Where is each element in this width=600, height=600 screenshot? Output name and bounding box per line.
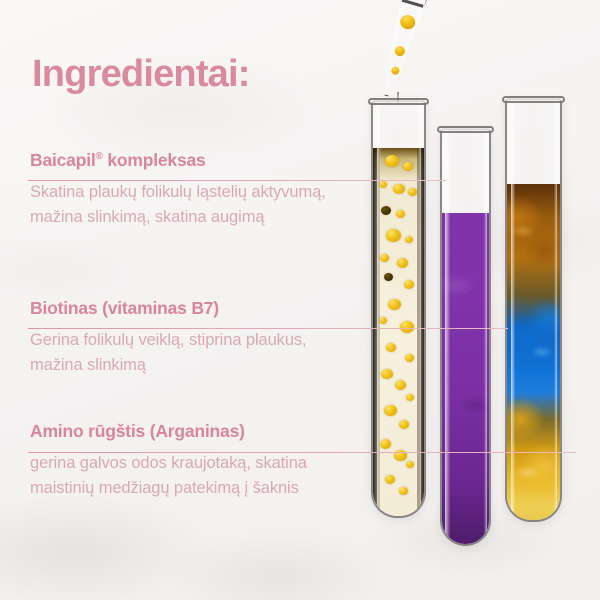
ingredient-heading-text: Amino rūgštis (Arganinas) (30, 421, 245, 441)
glass-pipette (374, 0, 429, 100)
tube-glass (505, 98, 562, 522)
pipette-droplet (399, 14, 417, 32)
tube-glass (371, 100, 426, 518)
ingredient-heading-text: Biotinas (vitaminas B7) (30, 298, 219, 318)
connector-line-to-tube-2 (28, 328, 508, 329)
oil-bubble (395, 380, 406, 390)
oil-bubble (393, 184, 405, 194)
oil-bubble (380, 439, 391, 449)
page-title: Ingredientai: (32, 53, 250, 96)
oil-bubble (385, 475, 395, 484)
ingredient-block-amino-rugstis: Amino rūgštis (Arganinas) gerina galvos … (30, 421, 330, 501)
oil-bubble (388, 299, 401, 310)
oil-bubble (408, 188, 417, 196)
oil-bubble (406, 394, 414, 401)
tube-edge-shadow-right (417, 148, 424, 516)
tube-rim (437, 126, 494, 133)
tube-glass (440, 128, 491, 546)
oil-bubble (405, 236, 413, 243)
oil-bubble (406, 461, 414, 468)
ingredient-description: Gerina folikulų veiklą, stiprina plaukus… (30, 328, 330, 378)
oil-bubble (399, 487, 408, 495)
oil-bubble (399, 420, 409, 429)
pipette-droplet (394, 45, 406, 57)
connector-line-to-tube-1 (28, 180, 446, 181)
test-tube-oil-serum (371, 100, 426, 518)
ingredient-description: Skatina plaukų folikulų ląstelių aktyvum… (30, 180, 330, 230)
pipette-droplet (390, 66, 400, 76)
test-tube-amber-blue (505, 98, 562, 522)
oil-bubble (379, 181, 387, 188)
tube-contents-oil (373, 148, 424, 516)
oil-bubble (385, 155, 399, 167)
test-tube-purple-powder (440, 128, 491, 546)
oil-bubble (380, 254, 389, 262)
ingredient-block-biotinas: Biotinas (vitaminas B7) Gerina folikulų … (30, 298, 330, 378)
oil-bubble (405, 354, 414, 362)
powder-texture (442, 213, 489, 544)
connector-line-to-tube-3 (28, 452, 576, 453)
oil-bubble (404, 280, 414, 289)
oil-bubble (381, 369, 393, 379)
oil-bubble (397, 258, 408, 268)
oil-bubble-dark (384, 273, 393, 281)
ingredient-heading: Biotinas (vitaminas B7) (30, 298, 330, 319)
oil-bubble (379, 317, 387, 324)
ingredient-block-baicapil: Baicapil® kompleksas Skatina plaukų foli… (30, 150, 330, 230)
oil-bubble (400, 321, 414, 333)
tube-rim (502, 96, 565, 103)
tube-contents-swirl (507, 184, 560, 520)
pipette-body (374, 0, 429, 100)
pipette-band (402, 0, 424, 8)
oil-bubble (386, 343, 396, 352)
ingredient-heading: Amino rūgštis (Arganinas) (30, 421, 330, 442)
ingredient-heading-text: Baicapil® kompleksas (30, 150, 206, 170)
ingredient-heading: Baicapil® kompleksas (30, 150, 330, 171)
tube-edge-shadow-left (373, 148, 380, 516)
oil-bubble-dark (381, 206, 391, 215)
oil-bubble (386, 229, 401, 242)
ingredient-description: gerina galvos odos kraujotaką, skatina m… (30, 451, 330, 501)
tube-contents-powder (442, 213, 489, 544)
oil-bubble (403, 162, 413, 171)
oil-bubble (396, 210, 405, 218)
oil-bubble (384, 405, 397, 416)
liquid-swirl-texture (507, 184, 560, 520)
